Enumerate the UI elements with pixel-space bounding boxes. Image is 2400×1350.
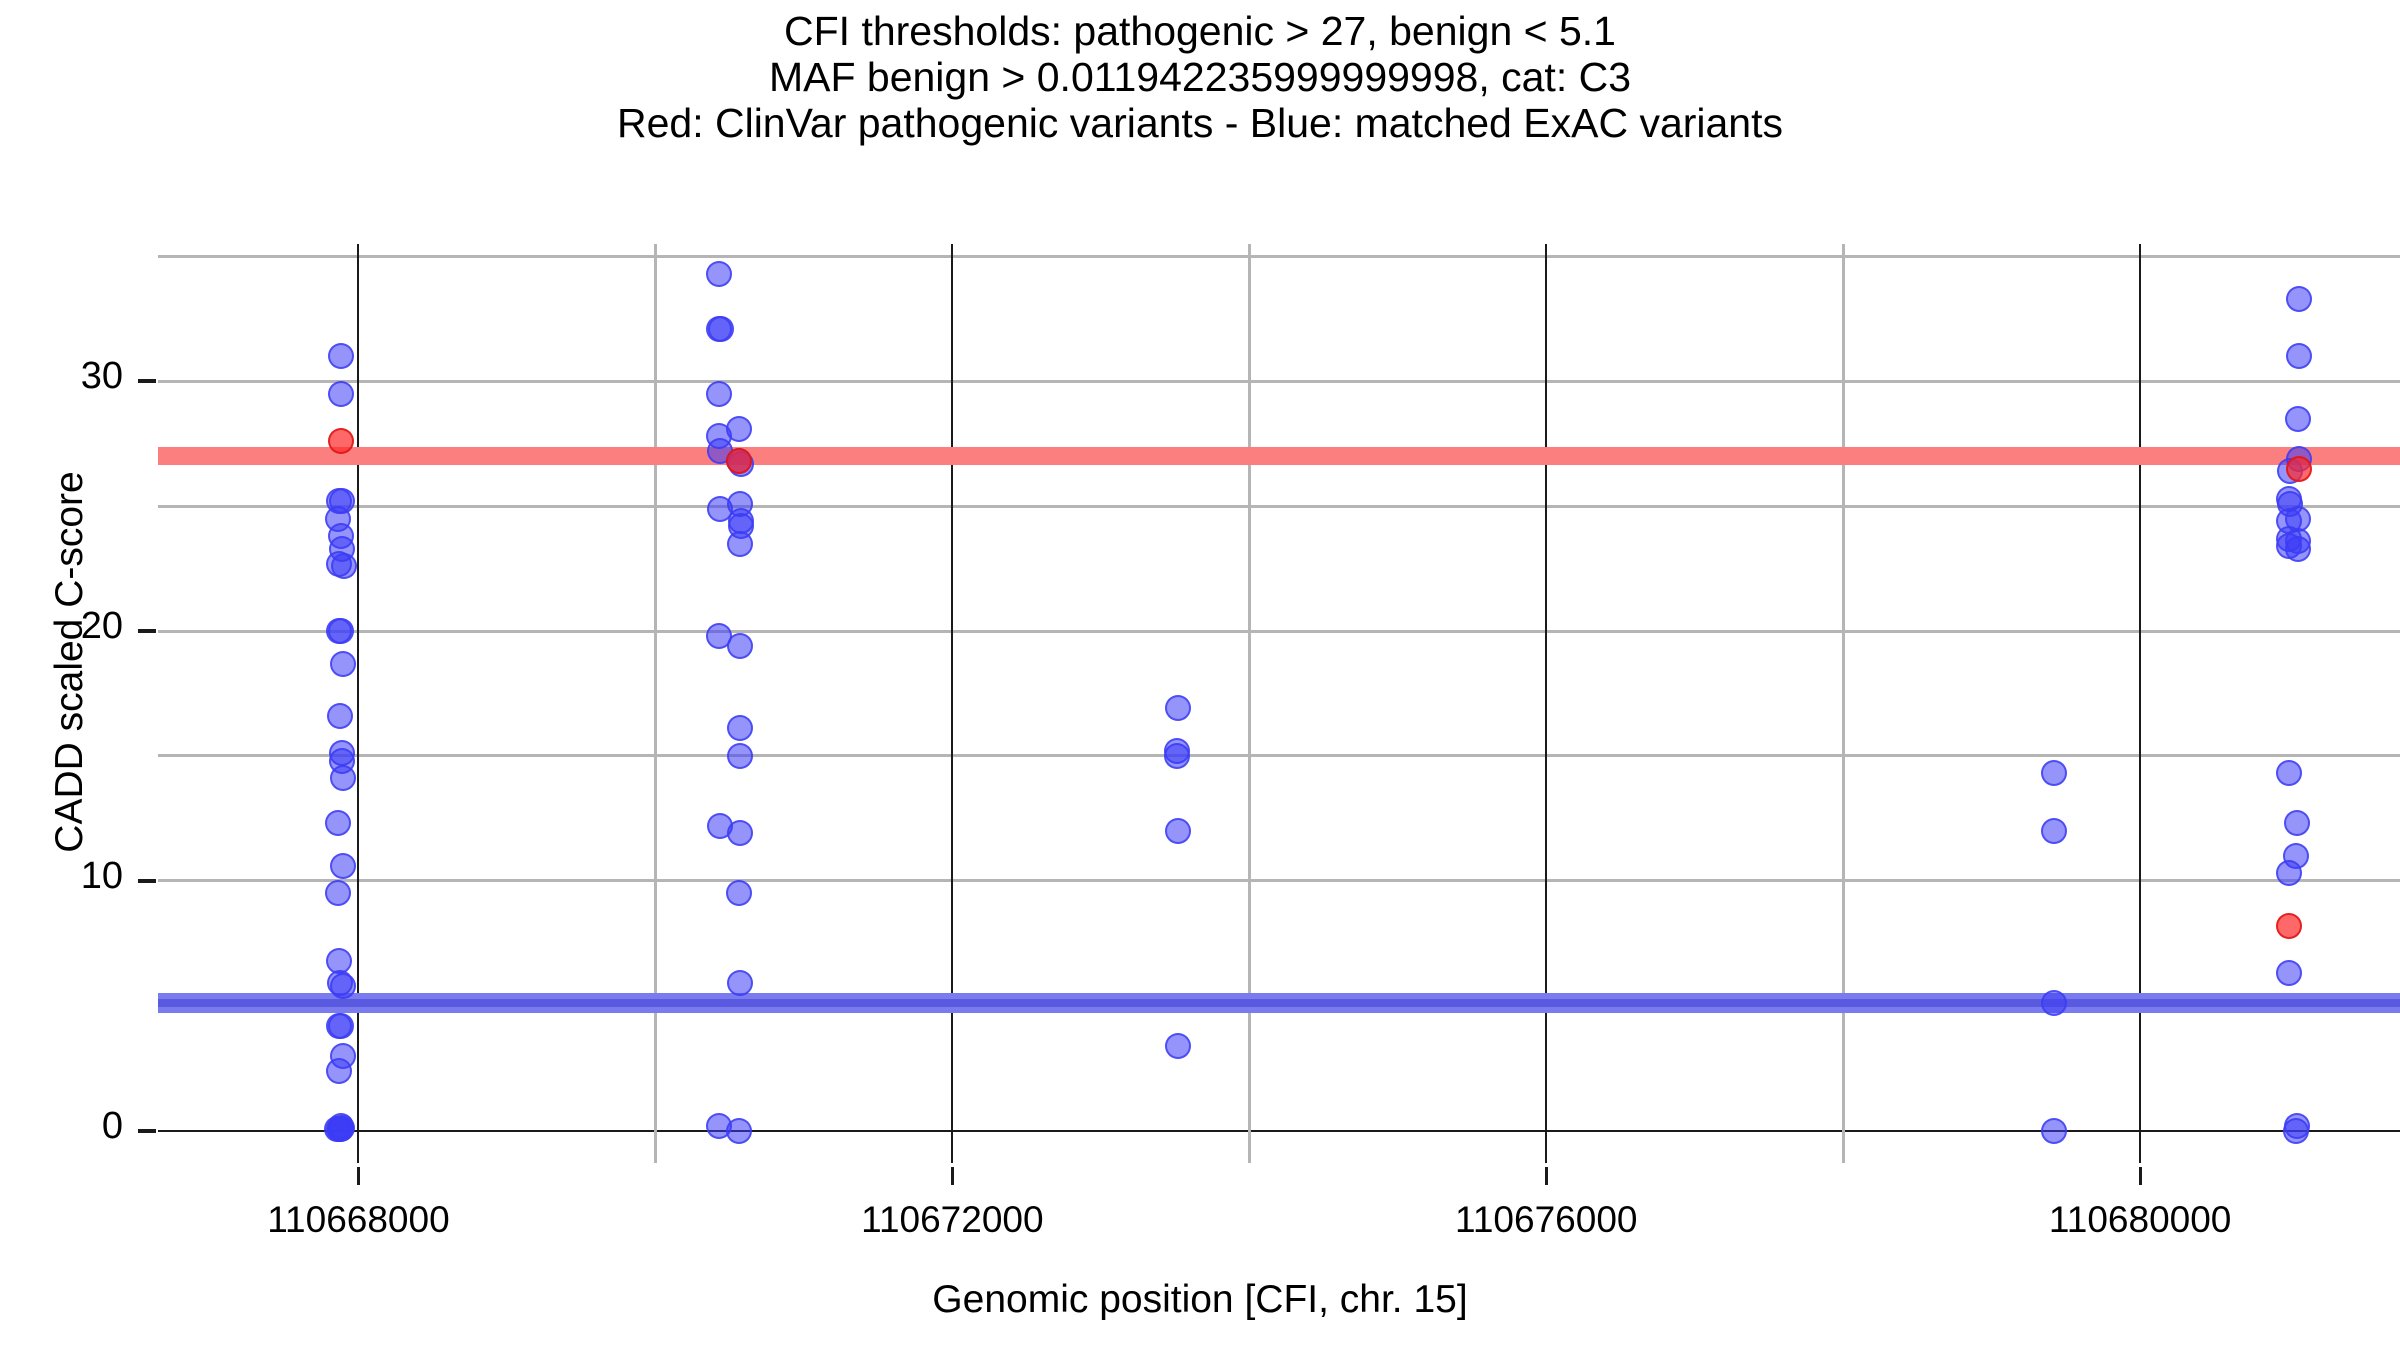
data-point-blue (328, 618, 354, 644)
gridline-y-10 (158, 879, 2400, 882)
scatter-plot-figure: CFI thresholds: pathogenic > 27, benign … (0, 0, 2400, 1350)
data-point-blue (1165, 695, 1191, 721)
y-tick-mark-30 (138, 379, 156, 383)
y-tick-mark-20 (138, 629, 156, 633)
data-point-blue (706, 381, 732, 407)
data-point-red (2286, 456, 2312, 482)
y-tick-label-30: 30 (13, 355, 123, 398)
x-tick-mark-110672000 (951, 1167, 954, 1185)
data-point-blue (2285, 536, 2311, 562)
data-point-blue (727, 743, 753, 769)
data-point-blue (2286, 286, 2312, 312)
x-tick-mark-110676000 (1545, 1167, 1548, 1185)
data-point-blue (330, 765, 356, 791)
gridline-minor-x-110678000 (1842, 244, 1845, 1163)
data-point-blue (2283, 1118, 2309, 1144)
data-point-blue (2285, 406, 2311, 432)
data-point-blue (2276, 760, 2302, 786)
data-point-blue (1164, 743, 1190, 769)
x-tick-mark-110680000 (2139, 1167, 2142, 1185)
data-point-blue (2284, 810, 2310, 836)
data-point-blue (330, 1043, 356, 1069)
data-point-blue (325, 810, 351, 836)
data-point-blue (2041, 1118, 2067, 1144)
x-axis-label: Genomic position [CFI, chr. 15] (0, 1278, 2400, 1322)
y-tick-mark-0 (138, 1129, 156, 1133)
data-point-red (328, 428, 354, 454)
data-point-blue (2041, 818, 2067, 844)
data-point-blue (727, 970, 753, 996)
data-point-blue (2276, 960, 2302, 986)
gridline-x-110672000 (951, 244, 953, 1163)
gridline-y-20 (158, 630, 2400, 633)
plot-area (158, 244, 2400, 1163)
x-tick-label-110668000: 110668000 (208, 1199, 508, 1241)
chart-title: CFI thresholds: pathogenic > 27, benign … (0, 8, 2400, 146)
data-point-blue (726, 880, 752, 906)
y-tick-label-10: 10 (13, 855, 123, 898)
data-point-blue (706, 261, 732, 287)
data-point-blue (2276, 860, 2302, 886)
y-tick-mark-10 (138, 879, 156, 883)
gridline-y-30 (158, 380, 2400, 383)
y-tick-label-20: 20 (13, 605, 123, 648)
data-point-blue (1165, 1033, 1191, 1059)
chart-title-line-2: MAF benign > 0.011942235999999998, cat: … (0, 54, 2400, 100)
data-point-blue (726, 416, 752, 442)
data-point-blue (328, 1013, 354, 1039)
x-tick-label-110680000: 110680000 (1990, 1199, 2290, 1241)
x-tick-label-110672000: 110672000 (802, 1199, 1102, 1241)
x-tick-mark-110668000 (357, 1167, 360, 1185)
data-point-blue (708, 316, 734, 342)
data-point-blue (325, 880, 351, 906)
gridline-minor-y-15 (158, 754, 2400, 757)
gridline-minor-x-110674000 (1248, 244, 1251, 1163)
data-point-blue (727, 633, 753, 659)
data-point-blue (327, 703, 353, 729)
y-tick-label-0: 0 (13, 1105, 123, 1148)
gridline-minor-y-25 (158, 505, 2400, 508)
gridline-x-110668000 (357, 244, 359, 1163)
gridline-x-110680000 (2139, 244, 2141, 1163)
data-point-blue (330, 651, 356, 677)
x-tick-label-110676000: 110676000 (1396, 1199, 1696, 1241)
data-point-blue (328, 343, 354, 369)
data-point-blue (727, 820, 753, 846)
data-point-blue (331, 553, 357, 579)
pathogenic-threshold (158, 447, 2400, 465)
gridline-minor-y-35 (158, 255, 2400, 258)
data-point-blue (2286, 343, 2312, 369)
chart-title-line-1: CFI thresholds: pathogenic > 27, benign … (0, 8, 2400, 54)
data-point-blue (330, 973, 356, 999)
data-point-blue (328, 381, 354, 407)
chart-title-line-3: Red: ClinVar pathogenic variants - Blue:… (0, 100, 2400, 146)
data-point-blue (726, 1118, 752, 1144)
data-point-red (2276, 913, 2302, 939)
gridline-minor-x-110670000 (654, 244, 657, 1163)
data-point-blue (330, 853, 356, 879)
gridline-x-110676000 (1545, 244, 1547, 1163)
data-point-blue (727, 531, 753, 557)
data-point-blue (1165, 818, 1191, 844)
data-point-blue (327, 1116, 353, 1142)
data-point-blue (727, 715, 753, 741)
data-point-blue (2041, 760, 2067, 786)
